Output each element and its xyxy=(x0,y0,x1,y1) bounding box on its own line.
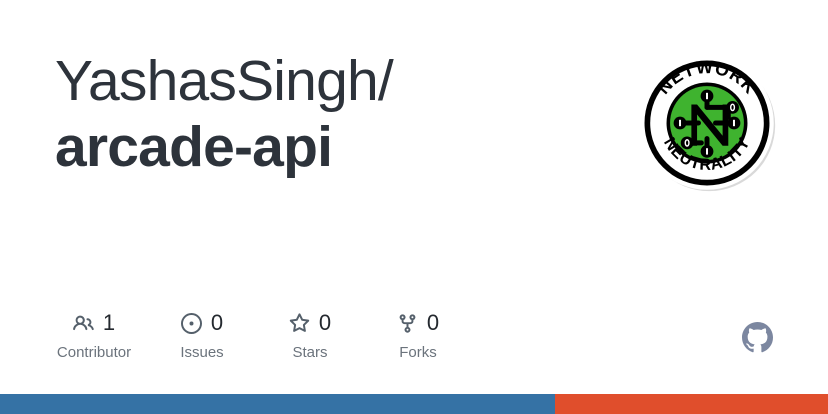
stat-contributors-value: 1 xyxy=(103,312,115,334)
page-title: YashasSingh/ arcade-api xyxy=(55,48,615,180)
network-neutrality-logo: NETWORK NEUTRALITY xyxy=(636,50,778,196)
star-icon xyxy=(289,313,310,334)
stat-issues-top: 0 xyxy=(181,308,223,338)
stat-forks-top: 0 xyxy=(397,308,439,338)
issue-opened-icon xyxy=(181,313,202,334)
language-bar xyxy=(0,394,828,414)
stat-contributors-top: 1 xyxy=(73,308,115,338)
stat-stars: 0 Stars xyxy=(256,308,364,362)
repository-stats: 1 Contributor 0 Issues xyxy=(40,308,472,362)
repo-forked-icon xyxy=(397,313,418,334)
repository-social-preview-card: YashasSingh/ arcade-api NETWORK xyxy=(0,0,828,414)
stat-stars-value: 0 xyxy=(319,312,331,334)
stat-issues-value: 0 xyxy=(211,312,223,334)
repository-name: arcade-api xyxy=(55,114,615,180)
stat-forks: 0 Forks xyxy=(364,308,472,362)
github-octocat-icon xyxy=(742,322,773,353)
stat-contributors: 1 Contributor xyxy=(40,308,148,362)
stat-issues: 0 Issues xyxy=(148,308,256,362)
stat-forks-value: 0 xyxy=(427,312,439,334)
language-segment-primary xyxy=(0,394,555,414)
stat-forks-label: Forks xyxy=(399,344,437,362)
language-segment-secondary xyxy=(555,394,828,414)
stat-stars-label: Stars xyxy=(292,344,327,362)
people-icon xyxy=(73,313,94,334)
stat-issues-label: Issues xyxy=(180,344,223,362)
stat-contributors-label: Contributor xyxy=(57,344,131,362)
repository-owner: YashasSingh/ xyxy=(55,48,615,114)
stat-stars-top: 0 xyxy=(289,308,331,338)
